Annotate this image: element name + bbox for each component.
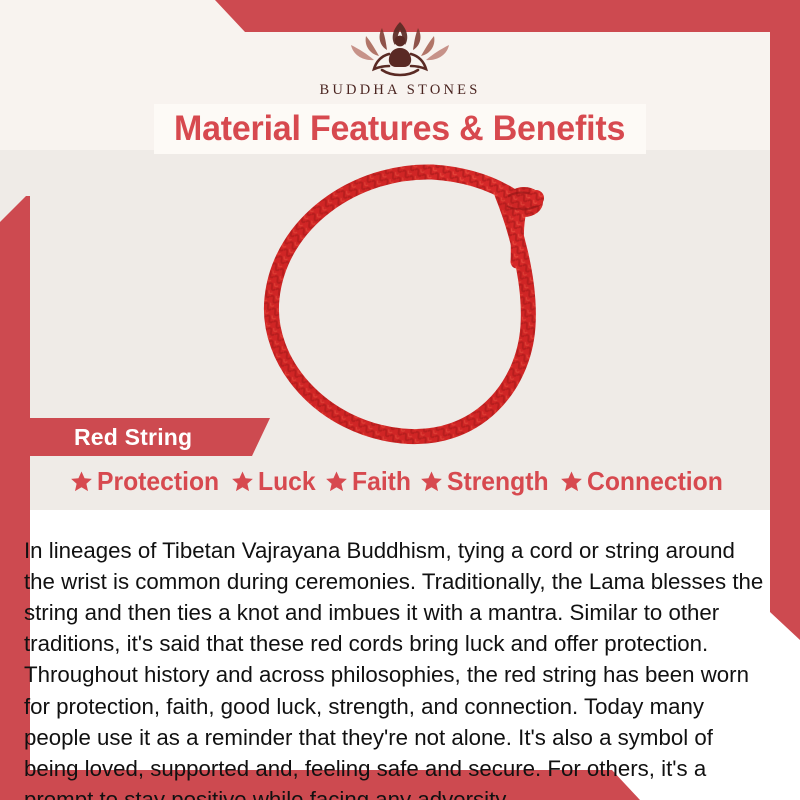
feature-label: Connection <box>587 466 723 497</box>
infographic-poster: BUDDHA STONES Material Features & Benefi… <box>0 0 800 800</box>
feature-item: Faith <box>325 466 414 497</box>
feature-item: Protection <box>70 466 226 497</box>
feature-label: Strength <box>447 466 549 497</box>
page-title: Material Features & Benefits <box>174 109 625 149</box>
star-icon <box>70 470 93 493</box>
feature-label: Faith <box>352 466 411 497</box>
star-icon <box>560 470 583 493</box>
feature-label: Luck <box>258 466 316 497</box>
brand-wordmark: BUDDHA STONES <box>320 82 481 99</box>
material-label: Red String <box>74 424 192 451</box>
feature-item: Strength <box>420 466 554 497</box>
star-icon <box>420 470 443 493</box>
description-paragraph: In lineages of Tibetan Vajrayana Buddhis… <box>24 535 765 800</box>
feature-item: Connection <box>560 466 730 497</box>
red-string-braided-bracelet-image <box>236 150 596 460</box>
feature-label: Protection <box>97 466 219 497</box>
lotus-meditation-icon <box>330 12 470 78</box>
star-icon <box>231 470 254 493</box>
feature-list: Protection Luck Faith Strength Connectio… <box>0 466 800 497</box>
brand-header: BUDDHA STONES <box>0 12 800 99</box>
feature-item: Luck <box>231 466 319 497</box>
material-label-ribbon: Red String <box>18 418 270 456</box>
title-banner: Material Features & Benefits <box>154 104 646 154</box>
star-icon <box>325 470 348 493</box>
